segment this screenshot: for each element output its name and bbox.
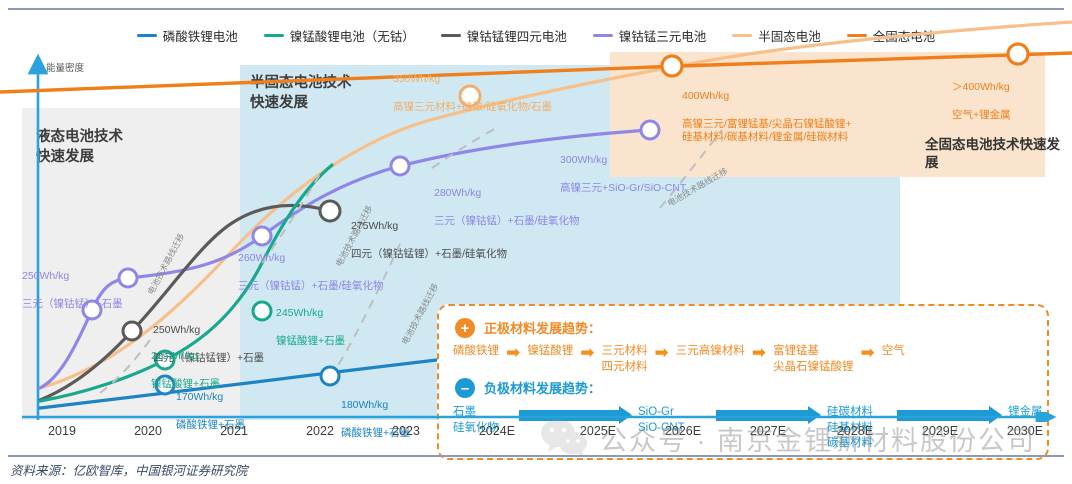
x-tick-2025E: 2025E xyxy=(580,424,616,438)
legend-swatch-ncm xyxy=(593,34,613,37)
annotation-solid-2026: 400Wh/kg 高镍三元/富锂锰基/尖晶石镍锰酸锂+ 硅基材料/碳基材料/锂金… xyxy=(682,76,851,159)
cathode-step-5: 富锂锰基 尖晶石镍锰酸锂 xyxy=(773,344,854,375)
annotation-ncm-2023: 280Wh/kg 三元（镍钴锰）+石墨/硅氧化物 xyxy=(434,173,580,242)
legend-item-semi-solid: 半固态电池 xyxy=(732,26,821,45)
legend-item-lfp: 磷酸铁锂电池 xyxy=(137,26,238,45)
cathode-title: 正极材料发展趋势： xyxy=(484,318,601,337)
legend-label-ncma: 镍钴锰锂四元电池 xyxy=(467,26,567,45)
minus-icon: – xyxy=(455,378,475,398)
x-tick-2023: 2023 xyxy=(392,424,420,438)
x-tick-2024E: 2024E xyxy=(479,424,515,438)
arrow-right-icon: ➡ xyxy=(655,344,669,361)
x-tick-2026E: 2026E xyxy=(665,424,701,438)
chart-plot-area: 液态电池技术 快速发展 半固态电池技术 快速发展 全固态电池技术快速发展 xyxy=(0,48,1072,420)
x-tick-2029E: 2029E xyxy=(922,424,958,438)
x-tick-2022: 2022 xyxy=(306,424,334,438)
cathode-step-2: 镍锰酸锂 xyxy=(527,344,573,360)
x-tick-2028E: 2028E xyxy=(837,424,873,438)
annotation-semi-2024: 350Wh/kg 高镍三元材料+硅碳/硅氧化物/石墨 xyxy=(393,59,552,128)
top-divider xyxy=(8,8,1064,10)
cathode-step-4: 三元高镍材料 xyxy=(676,344,745,360)
cathode-step-3: 三元材料 四元材料 xyxy=(602,344,648,375)
legend-label-semi-solid: 半固态电池 xyxy=(758,26,821,45)
anode-header: – 负极材料发展趋势： xyxy=(455,378,601,398)
x-tick-2020: 2020 xyxy=(134,424,162,438)
annotation-value: 300Wh/kg xyxy=(560,154,686,168)
cathode-step-1: 磷酸铁锂 xyxy=(453,344,499,360)
annotation-detail: 四元（镍钴锰锂）+石墨/硅氧化物 xyxy=(351,248,507,262)
annotation-detail: 高镍三元材料+硅碳/硅氧化物/石墨 xyxy=(393,101,552,115)
legend-item-ncma: 镍钴锰锂四元电池 xyxy=(441,26,567,45)
source-note: 资料来源：亿欧智库，中国银河证券研究院 xyxy=(10,460,248,479)
annotation-detail: 高镍三元+SiO-Gr/SiO-CNT xyxy=(560,182,686,196)
x-axis: 2019 2020 2021 2022 2023 2024E 2025E 202… xyxy=(0,420,1072,454)
annotation-detail: 三元（镍钴锰）+石墨/硅氧化物 xyxy=(434,215,580,229)
arrow-right-icon: ➡ xyxy=(861,344,875,361)
annotation-value: ＞400Wh/kg xyxy=(952,81,1011,95)
anode-title: 负极材料发展趋势： xyxy=(484,378,601,397)
cathode-header: + 正极材料发展趋势： xyxy=(455,318,601,338)
annotation-value: 250Wh/kg xyxy=(22,270,123,284)
annotation-detail: 高镍三元/富锂锰基/尖晶石镍锰酸锂+ 硅基材料/碳基材料/锂金属/硅碳材料 xyxy=(682,118,851,146)
legend-label-lnmo: 镍锰酸锂电池（无钴） xyxy=(290,26,415,45)
annotation-value: 170Wh/kg xyxy=(176,391,245,405)
annotation-value: 400Wh/kg xyxy=(682,90,851,104)
x-axis-line xyxy=(0,412,1072,422)
arrow-right-icon: ➡ xyxy=(752,344,766,361)
annotation-value: 180Wh/kg xyxy=(341,399,410,413)
legend-swatch-lnmo xyxy=(264,34,284,37)
legend-swatch-all-solid xyxy=(847,34,867,37)
legend-item-ncm: 镍钴锰三元电池 xyxy=(593,26,707,45)
annotation-value: 225Wh/kg xyxy=(151,350,220,364)
annotation-value: 245Wh/kg xyxy=(276,307,345,321)
annotation-detail: 三元（镍钴锰）+石墨/硅氧化物 xyxy=(238,280,384,294)
y-axis-label: 能量密度 xyxy=(46,60,84,74)
annotation-ncm-2019: 250Wh/kg 三元（镍钴锰）+石墨 xyxy=(22,256,123,325)
arrow-right-icon: ➡ xyxy=(506,344,520,361)
legend-swatch-ncma xyxy=(441,34,461,37)
annotation-detail: 三元（镍钴锰）+石墨 xyxy=(22,298,123,312)
legend-label-ncm: 镍钴锰三元电池 xyxy=(619,26,707,45)
annotation-value: 350Wh/kg xyxy=(393,73,552,87)
annotation-solid-2030: ＞400Wh/kg 空气+锂金属 xyxy=(952,67,1011,136)
arrow-right-icon: ➡ xyxy=(580,344,594,361)
annotation-detail: 空气+锂金属 xyxy=(952,109,1011,123)
cathode-step-6: 空气 xyxy=(882,344,905,360)
legend-swatch-lfp xyxy=(137,34,157,37)
annotation-ncm-2026: 300Wh/kg 高镍三元+SiO-Gr/SiO-CNT xyxy=(560,140,686,209)
footer-divider xyxy=(8,455,1064,457)
x-tick-2027E: 2027E xyxy=(750,424,786,438)
x-tick-2030E: 2030E xyxy=(1007,424,1043,438)
plus-icon: + xyxy=(455,318,475,338)
legend-item-lnmo: 镍锰酸锂电池（无钴） xyxy=(264,26,415,45)
legend-label-lfp: 磷酸铁锂电池 xyxy=(163,26,238,45)
x-tick-2019: 2019 xyxy=(48,424,76,438)
annotation-value: 280Wh/kg xyxy=(434,187,580,201)
legend-swatch-semi-solid xyxy=(732,34,752,37)
x-tick-2021: 2021 xyxy=(220,424,248,438)
annotation-lnmo-2022: 245Wh/kg 镍锰酸锂+石墨 xyxy=(276,293,345,362)
annotation-detail: 镍锰酸锂+石墨 xyxy=(276,335,345,349)
cathode-chain: 磷酸铁锂 ➡ 镍锰酸锂 ➡ 三元材料 四元材料 ➡ 三元高镍材料 ➡ 富锂锰基 … xyxy=(453,344,905,375)
